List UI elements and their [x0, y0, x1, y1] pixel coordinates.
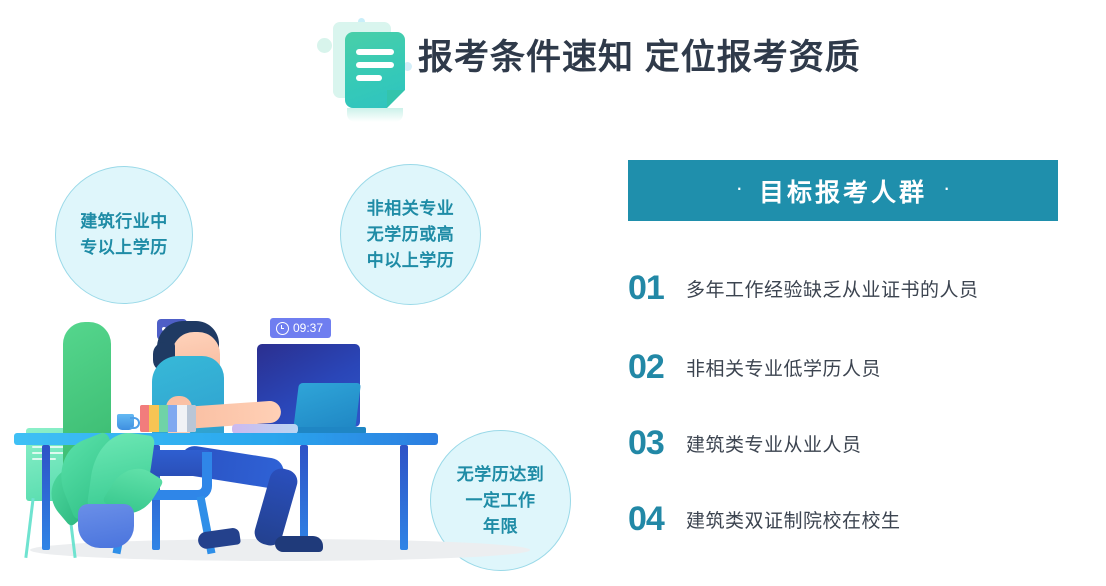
- list-item: 04 建筑类双证制院校在校生: [628, 500, 901, 539]
- list-item-number: 03: [628, 424, 686, 463]
- document-icon-line-1: [356, 49, 394, 55]
- desk-leg-3: [300, 445, 308, 550]
- coffee-mug: [117, 414, 134, 430]
- plant-pot: [78, 504, 134, 548]
- list-item-number: 02: [628, 348, 686, 387]
- document-icon-fold-corner: [387, 90, 405, 108]
- banner-dot-right: ·: [943, 177, 950, 199]
- document-icon-reflection: [347, 108, 403, 122]
- desk-leg-4: [400, 445, 408, 550]
- header: 报考条件速知 定位报考资质: [300, 8, 1000, 118]
- list-item-label: 多年工作经验缺乏从业证书的人员: [686, 275, 979, 302]
- document-icon-front-sheet: [345, 32, 405, 108]
- workspace-illustration: 09:37: [0, 300, 620, 586]
- page-title: 报考条件速知 定位报考资质: [418, 34, 861, 82]
- decorative-dot-large: [317, 38, 332, 53]
- time-badge: 09:37: [270, 318, 331, 338]
- document-icon-line-3: [356, 75, 382, 81]
- list-item: 01 多年工作经验缺乏从业证书的人员: [628, 269, 979, 308]
- bubble-2-line-2: 无学历或高: [367, 222, 455, 248]
- list-item-number: 04: [628, 500, 686, 539]
- bubble-2-line-1: 非相关专业: [367, 196, 455, 222]
- list-item: 03 建筑类专业从业人员: [628, 424, 862, 463]
- list-item-number: 01: [628, 269, 686, 308]
- requirement-bubble-2: 非相关专业 无学历或高 中以上学历: [340, 164, 481, 305]
- time-badge-label: 09:37: [293, 321, 323, 335]
- list-item-label: 建筑类专业从业人员: [686, 430, 862, 457]
- person-shoe-front: [275, 536, 323, 552]
- document-icon: [305, 16, 425, 116]
- book-stack: [140, 405, 196, 432]
- requirement-bubble-1: 建筑行业中 专以上学历: [55, 166, 193, 304]
- promo-banner-page: 报考条件速知 定位报考资质 建筑行业中 专以上学历 非相关专业 无学历或高 中以…: [0, 0, 1106, 586]
- target-audience-banner: · 目标报考人群 ·: [628, 160, 1058, 221]
- document-icon-line-2: [356, 62, 394, 68]
- list-item: 02 非相关专业低学历人员: [628, 348, 881, 387]
- laptop-screen: [293, 383, 361, 431]
- bubble-2-line-3: 中以上学历: [367, 248, 455, 274]
- bubble-1-line-1: 建筑行业中: [80, 209, 168, 235]
- list-item-label: 非相关专业低学历人员: [686, 354, 881, 381]
- banner-dot-left: ·: [736, 177, 743, 199]
- list-item-label: 建筑类双证制院校在校生: [686, 506, 901, 533]
- clock-icon: [276, 322, 289, 335]
- banner-title: 目标报考人群: [759, 173, 927, 209]
- bubble-1-line-2: 专以上学历: [80, 235, 168, 261]
- desk-leg-1: [42, 445, 50, 550]
